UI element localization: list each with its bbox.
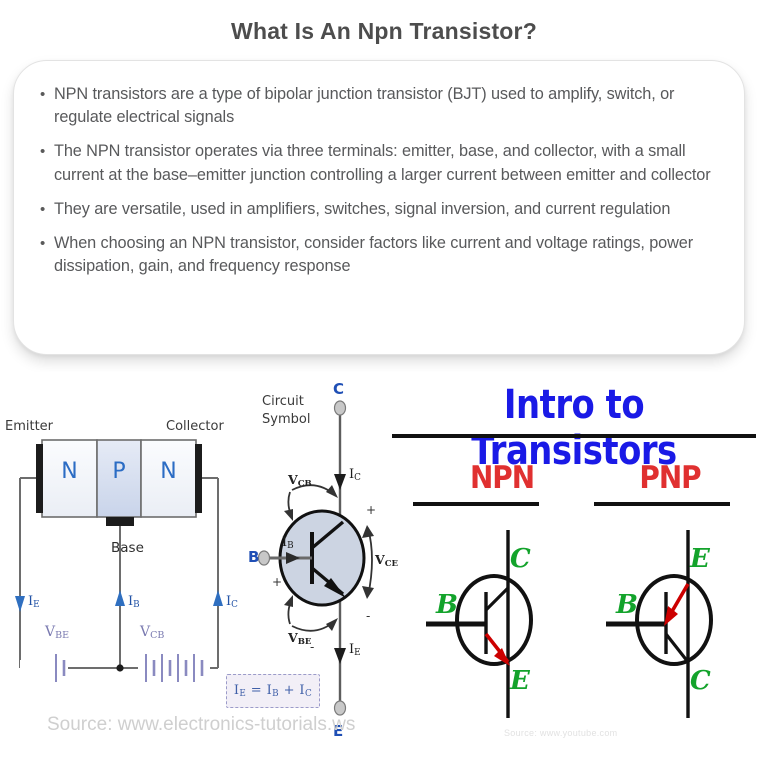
intro-to-transistors-panel: Intro to Transistors NPN PNP C B E	[378, 372, 768, 768]
intro-title-underline	[392, 434, 756, 438]
pnp-heading: PNP	[610, 460, 730, 496]
current-label-ib: IB	[128, 594, 140, 610]
symbol-voltage-vbe: VBE	[288, 630, 311, 647]
npn-symbol-svg	[416, 522, 596, 732]
pnp-terminal-b: B	[616, 590, 638, 620]
symbol-terminal-b: B	[248, 548, 259, 566]
npn-heading-underline	[413, 502, 539, 506]
bullet-marker: •	[40, 198, 54, 221]
layer-n-collector: N	[141, 459, 196, 484]
bullet-marker: •	[40, 232, 54, 255]
symbol-current-ie: IE	[349, 642, 361, 658]
current-label-ie: IE	[28, 594, 40, 610]
npn-terminal-b: B	[436, 590, 458, 620]
polarity-plus-top: +	[366, 503, 376, 517]
polarity-minus-bottom: -	[310, 640, 314, 654]
source-watermark-right: Source: www.youtube.com	[504, 728, 617, 738]
bullet-marker: •	[40, 83, 54, 106]
symbol-current-ib: IB	[282, 535, 294, 551]
layer-n-emitter: N	[42, 459, 97, 484]
voltage-label-vbe: VBE	[45, 624, 69, 641]
list-item: • NPN transistors are a type of bipolar …	[40, 83, 714, 129]
voltage-label-vcb: VCB	[140, 624, 164, 641]
symbol-voltage-vcb: VCB	[288, 472, 312, 489]
layer-p-base: P	[97, 459, 141, 484]
list-item: • The NPN transistor operates via three …	[40, 140, 714, 186]
list-item: • They are versatile, used in amplifiers…	[40, 198, 714, 221]
polarity-minus-right: -	[366, 609, 370, 623]
summary-section: What Is An Npn Transistor? • NPN transis…	[0, 0, 768, 372]
npn-heading: NPN	[442, 460, 562, 496]
bullet-text: NPN transistors are a type of bipolar ju…	[54, 83, 714, 129]
npn-structure-diagram: Emitter Collector Base Circuit Symbol	[0, 372, 378, 768]
polarity-plus-base: +	[272, 575, 282, 589]
npn-terminal-c: C	[510, 544, 531, 574]
symbol-terminal-c: C	[333, 380, 344, 398]
pnp-terminal-c: C	[690, 666, 711, 696]
bullet-text: The NPN transistor operates via three te…	[54, 140, 714, 186]
symbol-current-ic: IC	[349, 467, 361, 483]
npn-block-schematic-svg	[0, 372, 378, 768]
pnp-heading-underline	[594, 502, 730, 506]
npn-terminal-e: E	[510, 666, 530, 696]
current-equation: IE = IB + IC	[234, 683, 312, 699]
pnp-terminal-e: E	[690, 544, 710, 574]
bullet-text: They are versatile, used in amplifiers, …	[54, 198, 714, 221]
list-item: • When choosing an NPN transistor, consi…	[40, 232, 714, 278]
bullet-text: When choosing an NPN transistor, conside…	[54, 232, 714, 278]
current-label-ic: IC	[226, 594, 238, 610]
pnp-symbol-svg	[596, 522, 768, 732]
page-title: What Is An Npn Transistor?	[0, 18, 768, 45]
figures-section: Emitter Collector Base Circuit Symbol	[0, 372, 768, 768]
source-watermark-left: Source: www.electronics-tutorials.ws	[47, 714, 355, 736]
bullet-marker: •	[40, 140, 54, 163]
current-equation-box: IE = IB + IC	[226, 674, 320, 708]
bullet-card: • NPN transistors are a type of bipolar …	[13, 60, 745, 355]
